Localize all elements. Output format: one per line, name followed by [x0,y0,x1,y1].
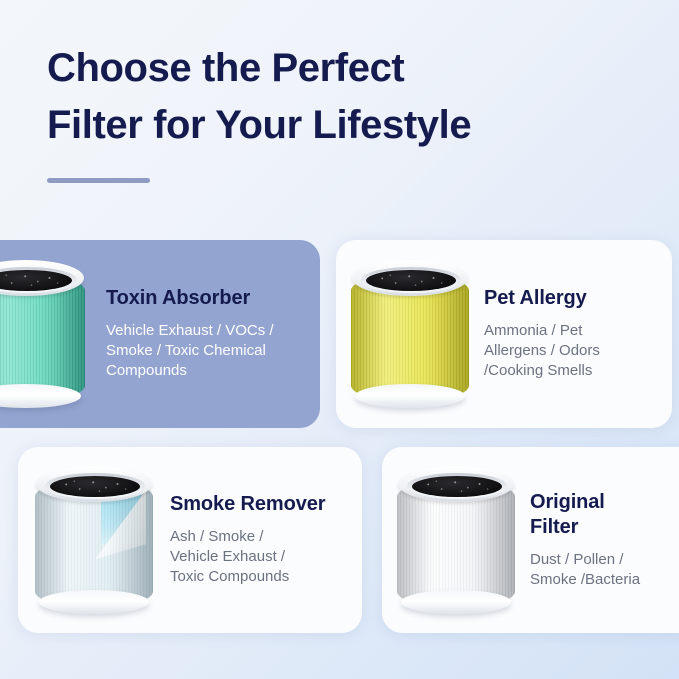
card-text-smoke-remover: Smoke Remover Ash / Smoke / Vehicle Exha… [170,492,362,588]
filter-card-original-filter[interactable]: Original Filter Dust / Pollen / Smoke /B… [382,447,679,633]
header: Choose the Perfect Filter for Your Lifes… [47,40,637,154]
carbon-specks [50,476,140,497]
card-title: Pet Allergy [484,286,662,312]
carbon-specks [412,476,502,497]
card-description: Vehicle Exhaust / VOCs / Smoke / Toxic C… [106,321,306,382]
air-filter-cartridge-icon [35,464,153,616]
card-text-pet-allergy: Pet Allergy Ammonia / Pet Allergens / Od… [484,286,672,382]
infographic-page: Choose the Perfect Filter for Your Lifes… [0,0,679,679]
filter-top-rim [352,260,468,296]
card-description: Dust / Pollen / Smoke /Bacteria [530,550,679,591]
carbon-specks [366,270,456,291]
card-title: Toxin Absorber [106,286,306,312]
card-description: Ash / Smoke / Vehicle Exhaust / Toxic Co… [170,527,352,588]
filter-image-smoke-remover [18,447,170,633]
title-divider [47,178,150,183]
filter-card-smoke-remover[interactable]: Smoke Remover Ash / Smoke / Vehicle Exha… [18,447,362,633]
card-title: Smoke Remover [170,492,352,518]
air-filter-cartridge-icon [351,258,469,410]
card-title: Original Filter [530,490,679,541]
filter-image-original-filter [382,447,530,633]
filter-card-toxin-absorber[interactable]: Toxin Absorber Vehicle Exhaust / VOCs / … [0,240,320,428]
filter-carbon-core [50,476,140,497]
air-filter-cartridge-icon [397,464,515,616]
filter-top-rim [36,466,152,502]
filter-bottom-rim [39,590,149,614]
filter-bottom-rim [355,384,465,408]
filter-carbon-core [366,270,456,291]
card-text-toxin-absorber: Toxin Absorber Vehicle Exhaust / VOCs / … [106,286,320,382]
card-description: Ammonia / Pet Allergens / Odors /Cooking… [484,321,662,382]
filter-top-rim [398,466,514,502]
filter-image-pet-allergy [336,240,484,428]
page-title: Choose the Perfect Filter for Your Lifes… [47,40,637,154]
filter-card-pet-allergy[interactable]: Pet Allergy Ammonia / Pet Allergens / Od… [336,240,672,428]
air-filter-cartridge-icon [0,258,85,410]
filter-image-toxin-absorber [0,240,106,428]
filter-carbon-core [412,476,502,497]
card-text-original-filter: Original Filter Dust / Pollen / Smoke /B… [530,490,679,591]
filter-bottom-rim [0,384,81,408]
filter-bottom-rim [401,590,511,614]
